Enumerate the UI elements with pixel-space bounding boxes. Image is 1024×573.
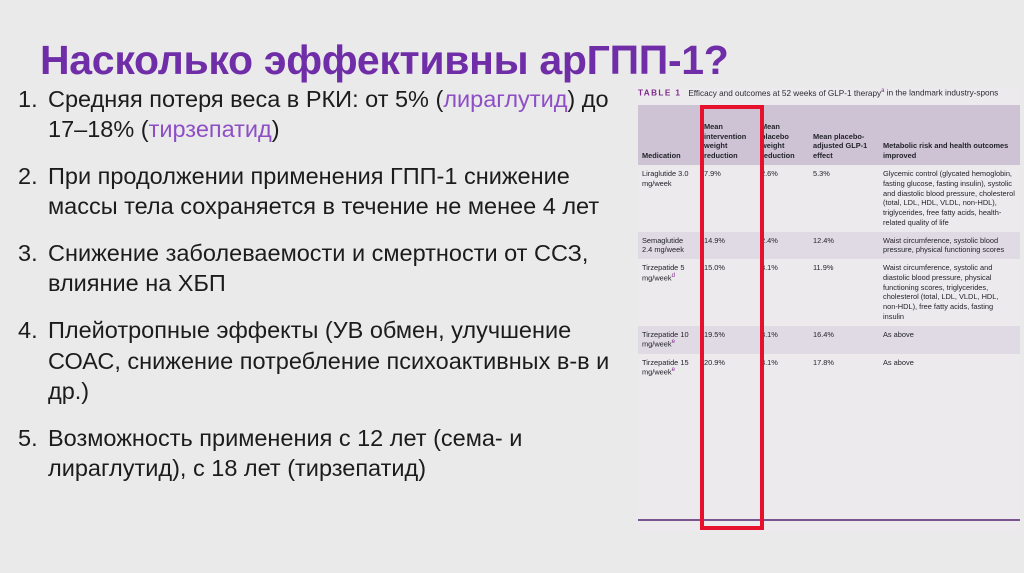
list-item-number: 5. bbox=[18, 423, 48, 453]
cell-adjusted: 5.3% bbox=[809, 165, 879, 232]
cell-footnote-marker: e bbox=[672, 367, 675, 373]
list-item: 5.Возможность применения с 12 лет (сема-… bbox=[18, 423, 618, 483]
journal-table-figure: TABLE 1Efficacy and outcomes at 52 weeks… bbox=[638, 88, 1020, 532]
plain-text: Средняя потеря веса в РКИ: от 5% ( bbox=[48, 86, 443, 112]
list-item-text: Плейотропные эффекты (УВ обмен, улучшени… bbox=[48, 315, 618, 405]
column-header-placebo: Mean placebo weight reduction bbox=[757, 105, 809, 165]
column-header-outcomes: Metabolic risk and health outcomes impro… bbox=[879, 105, 1020, 165]
list-item-text: Снижение заболеваемости и смертности от … bbox=[48, 238, 618, 298]
list-item: 1.Средняя потеря веса в РКИ: от 5% (лира… bbox=[18, 84, 618, 144]
table-row: Semaglutide 2.4 mg/week14.9%2.4%12.4%Wai… bbox=[638, 232, 1020, 260]
cell-medication: Tirzepatide 5 mg/weekd bbox=[638, 259, 700, 326]
list-item: 4.Плейотропные эффекты (УВ обмен, улучше… bbox=[18, 315, 618, 405]
cell-adjusted: 16.4% bbox=[809, 326, 879, 354]
highlighted-term: лираглутид bbox=[443, 86, 567, 112]
table-caption-text: Efficacy and outcomes at 52 weeks of GLP… bbox=[688, 89, 881, 98]
cell-placebo: 3.1% bbox=[757, 259, 809, 326]
list-item: 3.Снижение заболеваемости и смертности о… bbox=[18, 238, 618, 298]
column-header-medication: Medication bbox=[638, 105, 700, 165]
cell-intervention: 19.5% bbox=[700, 326, 757, 354]
cell-placebo: 3.1% bbox=[757, 326, 809, 354]
cell-medication: Semaglutide 2.4 mg/week bbox=[638, 232, 700, 260]
cell-footnote-marker: e bbox=[672, 339, 675, 345]
column-header-adjusted: Mean placebo-adjusted GLP-1 effect bbox=[809, 105, 879, 165]
table-row: Tirzepatide 15 mg/weeke20.9%3.1%17.8%As … bbox=[638, 354, 1020, 382]
cell-adjusted: 12.4% bbox=[809, 232, 879, 260]
cell-medication: Liraglutide 3.0 mg/week bbox=[638, 165, 700, 232]
cell-outcomes: Waist circumference, systolic and diasto… bbox=[879, 259, 1020, 326]
cell-intervention: 7.9% bbox=[700, 165, 757, 232]
table-row: Tirzepatide 10 mg/weeke19.5%3.1%16.4%As … bbox=[638, 326, 1020, 354]
cell-adjusted: 11.9% bbox=[809, 259, 879, 326]
list-item-text: Средняя потеря веса в РКИ: от 5% (лирагл… bbox=[48, 84, 618, 144]
cell-medication: Tirzepatide 10 mg/weeke bbox=[638, 326, 700, 354]
cell-outcomes: As above bbox=[879, 326, 1020, 354]
list-item-text: Возможность применения с 12 лет (сема- и… bbox=[48, 423, 618, 483]
cell-placebo: 2.4% bbox=[757, 232, 809, 260]
efficacy-table: Medication Mean intervention weight redu… bbox=[638, 105, 1020, 382]
table-row: Tirzepatide 5 mg/weekd15.0%3.1%11.9%Wais… bbox=[638, 259, 1020, 326]
cell-outcomes: Glycemic control (glycated hemoglobin, f… bbox=[879, 165, 1020, 232]
list-item-number: 2. bbox=[18, 161, 48, 191]
plain-text: Возможность применения с 12 лет (сема- и… bbox=[48, 425, 522, 481]
table-header-row: Medication Mean intervention weight redu… bbox=[638, 105, 1020, 165]
plain-text: ) bbox=[272, 116, 280, 142]
table-row: Liraglutide 3.0 mg/week7.9%2.6%5.3%Glyce… bbox=[638, 165, 1020, 232]
plain-text: При продолжении применения ГПП-1 снижени… bbox=[48, 163, 599, 219]
table-caption: TABLE 1Efficacy and outcomes at 52 weeks… bbox=[638, 88, 1024, 98]
plain-text: Плейотропные эффекты (УВ обмен, улучшени… bbox=[48, 317, 609, 403]
table-bottom-rule bbox=[638, 519, 1020, 521]
table-body: Liraglutide 3.0 mg/week7.9%2.6%5.3%Glyce… bbox=[638, 165, 1020, 382]
numbered-bullet-list: 1.Средняя потеря веса в РКИ: от 5% (лира… bbox=[18, 84, 618, 500]
list-item-number: 1. bbox=[18, 84, 48, 114]
list-item-number: 4. bbox=[18, 315, 48, 345]
table-caption-tail: in the landmark industry-spons bbox=[884, 89, 998, 98]
table-header: Medication Mean intervention weight redu… bbox=[638, 105, 1020, 165]
plain-text: Снижение заболеваемости и смертности от … bbox=[48, 240, 588, 296]
cell-medication: Tirzepatide 15 mg/weeke bbox=[638, 354, 700, 382]
cell-placebo: 3.1% bbox=[757, 354, 809, 382]
cell-intervention: 20.9% bbox=[700, 354, 757, 382]
cell-intervention: 14.9% bbox=[700, 232, 757, 260]
highlighted-term: тирзепатид bbox=[149, 116, 272, 142]
table-caption-label: TABLE 1 bbox=[638, 89, 681, 98]
cell-placebo: 2.6% bbox=[757, 165, 809, 232]
slide-canvas: Насколько эффективны арГПП-1? 1.Средняя … bbox=[0, 0, 1024, 573]
page-title: Насколько эффективны арГПП-1? bbox=[40, 37, 990, 84]
cell-adjusted: 17.8% bbox=[809, 354, 879, 382]
column-header-intervention: Mean intervention weight reduction bbox=[700, 105, 757, 165]
cell-footnote-marker: d bbox=[672, 273, 675, 279]
list-item-text: При продолжении применения ГПП-1 снижени… bbox=[48, 161, 618, 221]
list-item: 2.При продолжении применения ГПП-1 сниже… bbox=[18, 161, 618, 221]
list-item-number: 3. bbox=[18, 238, 48, 268]
cell-outcomes: Waist circumference, systolic blood pres… bbox=[879, 232, 1020, 260]
cell-outcomes: As above bbox=[879, 354, 1020, 382]
cell-intervention: 15.0% bbox=[700, 259, 757, 326]
